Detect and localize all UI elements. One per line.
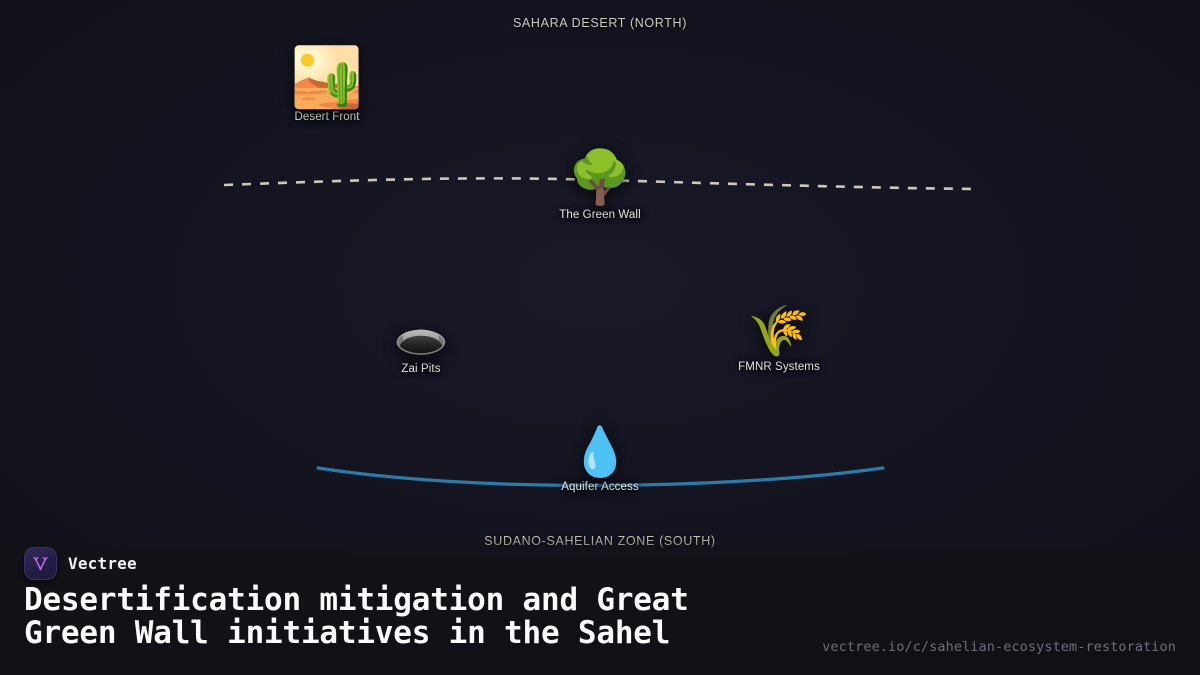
sheaf-rice-emoji-icon: 🌾 (704, 306, 854, 356)
brand-row[interactable]: Vectree (24, 547, 137, 580)
map-node-label: The Green Wall (525, 209, 675, 221)
map-node-zai-pits[interactable]: 🕳️ Zai Pits (346, 314, 496, 375)
map-node-aquifer-access[interactable]: 💧 Aquifer Access (525, 428, 675, 493)
map-node-desert-front[interactable]: 🏜️ Desert Front (252, 48, 402, 123)
map-node-fmnr-systems[interactable]: 🌾 FMNR Systems (704, 306, 854, 373)
desert-emoji-icon: 🏜️ (252, 48, 402, 106)
source-url: vectree.io/c/sahelian-ecosystem-restorat… (822, 639, 1176, 655)
droplet-emoji-icon: 💧 (525, 428, 675, 476)
zone-label-north: SAHARA DESERT (NORTH) (0, 16, 1200, 30)
map-node-label: Aquifer Access (525, 481, 675, 493)
map-node-label: FMNR Systems (704, 361, 854, 373)
tree-emoji-icon: 🌳 (525, 152, 675, 204)
map-node-label: Desert Front (252, 111, 402, 123)
map-node-the-green-wall[interactable]: 🌳 The Green Wall (525, 152, 675, 221)
screenshot-root: SAHARA DESERT (NORTH) SUDANO-SAHELIAN ZO… (0, 0, 1200, 675)
map-canvas: SAHARA DESERT (NORTH) SUDANO-SAHELIAN ZO… (0, 0, 1200, 560)
hole-emoji-icon: 🕳️ (346, 314, 496, 358)
map-node-label: Zai Pits (346, 363, 496, 375)
footer-bar: Vectree Desertification mitigation and G… (0, 535, 1200, 675)
page-title: Desertification mitigation and Great Gre… (24, 584, 824, 650)
vectree-logo-icon (24, 547, 57, 580)
brand-name: Vectree (68, 554, 137, 573)
